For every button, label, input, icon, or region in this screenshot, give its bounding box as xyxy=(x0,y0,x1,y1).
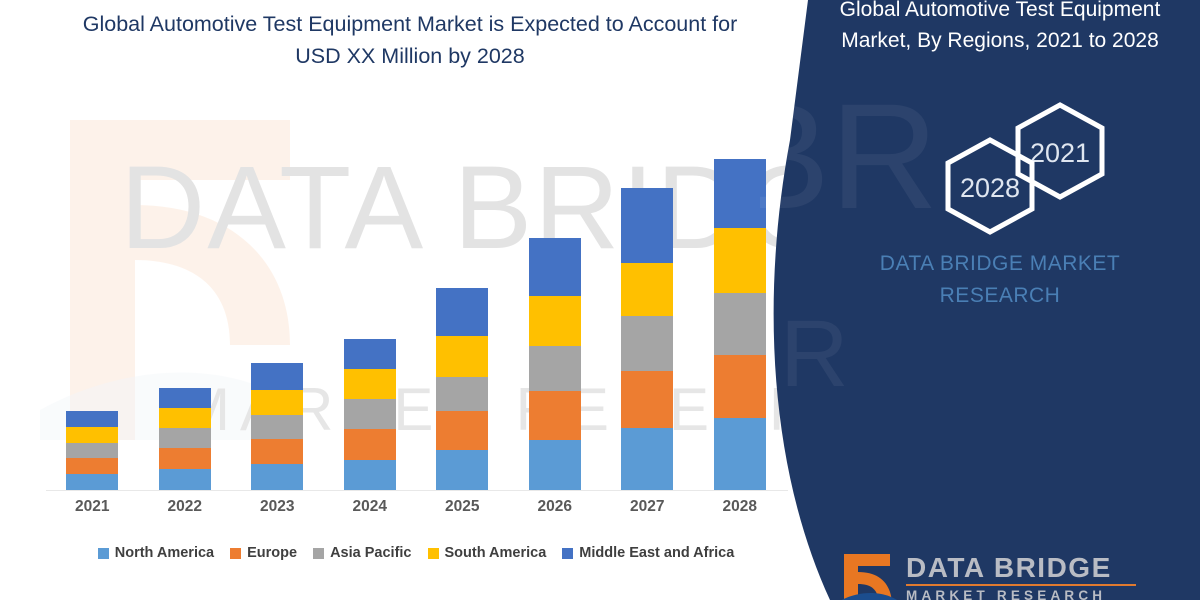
bar-segment[interactable] xyxy=(714,355,766,418)
brand-logo-text: DATA BRIDGE MARKET RESEARCH xyxy=(906,553,1136,600)
legend-label: Asia Pacific xyxy=(330,545,411,561)
bar-segment[interactable] xyxy=(621,428,673,490)
bar-segment[interactable] xyxy=(344,339,396,369)
bar-segment[interactable] xyxy=(436,450,488,490)
bar-segment[interactable] xyxy=(251,415,303,439)
year-hexagons: 2021 2028 xyxy=(870,100,1150,250)
bar-segment[interactable] xyxy=(714,293,766,355)
bar-segment[interactable] xyxy=(251,390,303,415)
bar-segment[interactable] xyxy=(714,228,766,293)
bar-segment[interactable] xyxy=(344,369,396,399)
legend-item[interactable]: North America xyxy=(98,545,214,561)
x-axis-label: 2028 xyxy=(714,498,766,516)
hexagon-2021-label: 2021 xyxy=(1030,138,1090,168)
bar-segment[interactable] xyxy=(66,427,118,443)
bar-segment[interactable] xyxy=(344,399,396,429)
chart-legend: North AmericaEuropeAsia PacificSouth Ame… xyxy=(46,540,786,566)
brand-logo: DATA BRIDGE MARKET RESEARCH xyxy=(838,550,1178,600)
x-axis-line xyxy=(46,490,788,491)
bar-chart-plot xyxy=(46,100,786,490)
bar-group[interactable] xyxy=(436,288,488,490)
bar-segment[interactable] xyxy=(436,288,488,336)
bar-segment[interactable] xyxy=(621,371,673,428)
legend-swatch-icon xyxy=(428,548,439,559)
x-axis-label: 2024 xyxy=(344,498,396,516)
bar-segment[interactable] xyxy=(159,388,211,408)
x-axis-label: 2023 xyxy=(251,498,303,516)
bar-segment[interactable] xyxy=(621,188,673,263)
bar-segment[interactable] xyxy=(66,411,118,427)
brand-logo-secondary: MARKET RESEARCH xyxy=(906,588,1136,600)
legend-item[interactable]: Europe xyxy=(230,545,297,561)
bar-segment[interactable] xyxy=(251,439,303,464)
legend-label: South America xyxy=(445,545,547,561)
bar-segment[interactable] xyxy=(436,336,488,377)
x-axis-label: 2021 xyxy=(66,498,118,516)
bar-segment[interactable] xyxy=(159,469,211,490)
bar-group[interactable] xyxy=(529,238,581,490)
legend-label: Europe xyxy=(247,545,297,561)
bar-segment[interactable] xyxy=(714,418,766,490)
bar-group[interactable] xyxy=(159,388,211,490)
legend-swatch-icon xyxy=(313,548,324,559)
bar-segment[interactable] xyxy=(621,316,673,371)
bar-segment[interactable] xyxy=(66,443,118,458)
x-axis-label: 2022 xyxy=(159,498,211,516)
bar-segment[interactable] xyxy=(66,474,118,490)
legend-item[interactable]: South America xyxy=(428,545,547,561)
bar-segment[interactable] xyxy=(159,428,211,448)
side-panel: BR R Global Automotive Test Equipment Ma… xyxy=(760,0,1200,600)
bar-segment[interactable] xyxy=(529,346,581,391)
bridge-logo-icon xyxy=(838,550,900,600)
legend-label: Middle East and Africa xyxy=(579,545,734,561)
legend-swatch-icon xyxy=(230,548,241,559)
bar-segment[interactable] xyxy=(621,263,673,316)
x-axis-labels: 20212022202320242025202620272028 xyxy=(46,498,786,526)
brand-logo-divider xyxy=(906,584,1136,586)
x-axis-label: 2027 xyxy=(621,498,673,516)
legend-swatch-icon xyxy=(98,548,109,559)
bar-group[interactable] xyxy=(66,411,118,490)
bar-segment[interactable] xyxy=(159,408,211,428)
legend-swatch-icon xyxy=(562,548,573,559)
bar-segment[interactable] xyxy=(529,238,581,296)
bar-group[interactable] xyxy=(251,363,303,490)
x-axis-label: 2026 xyxy=(529,498,581,516)
brand-logo-primary: DATA BRIDGE xyxy=(906,553,1136,583)
bar-segment[interactable] xyxy=(344,460,396,490)
legend-label: North America xyxy=(115,545,214,561)
bar-segment[interactable] xyxy=(436,377,488,411)
hexagon-2028-label: 2028 xyxy=(960,173,1020,203)
bar-segment[interactable] xyxy=(529,296,581,346)
bar-segment[interactable] xyxy=(251,464,303,490)
bar-segment[interactable] xyxy=(529,391,581,440)
bar-segment[interactable] xyxy=(66,458,118,474)
panel-title: Global Automotive Test Equipment Market,… xyxy=(820,0,1180,56)
chart-title: Global Automotive Test Equipment Market … xyxy=(60,8,760,72)
panel-subtitle: DATA BRIDGE MARKET RESEARCH xyxy=(830,248,1170,312)
bar-segment[interactable] xyxy=(714,159,766,228)
infographic-canvas: DATA BRIDGE MARKET RESEARCH Global Autom… xyxy=(0,0,1200,600)
bar-segment[interactable] xyxy=(529,440,581,490)
legend-item[interactable]: Asia Pacific xyxy=(313,545,411,561)
bar-group[interactable] xyxy=(714,159,766,490)
bar-segment[interactable] xyxy=(251,363,303,390)
bar-group[interactable] xyxy=(621,188,673,490)
x-axis-label: 2025 xyxy=(436,498,488,516)
panel-watermark-2: R xyxy=(780,300,861,409)
bar-group[interactable] xyxy=(344,339,396,490)
bar-segment[interactable] xyxy=(344,429,396,460)
bar-segment[interactable] xyxy=(436,411,488,450)
bar-segment[interactable] xyxy=(159,448,211,469)
legend-item[interactable]: Middle East and Africa xyxy=(562,545,734,561)
